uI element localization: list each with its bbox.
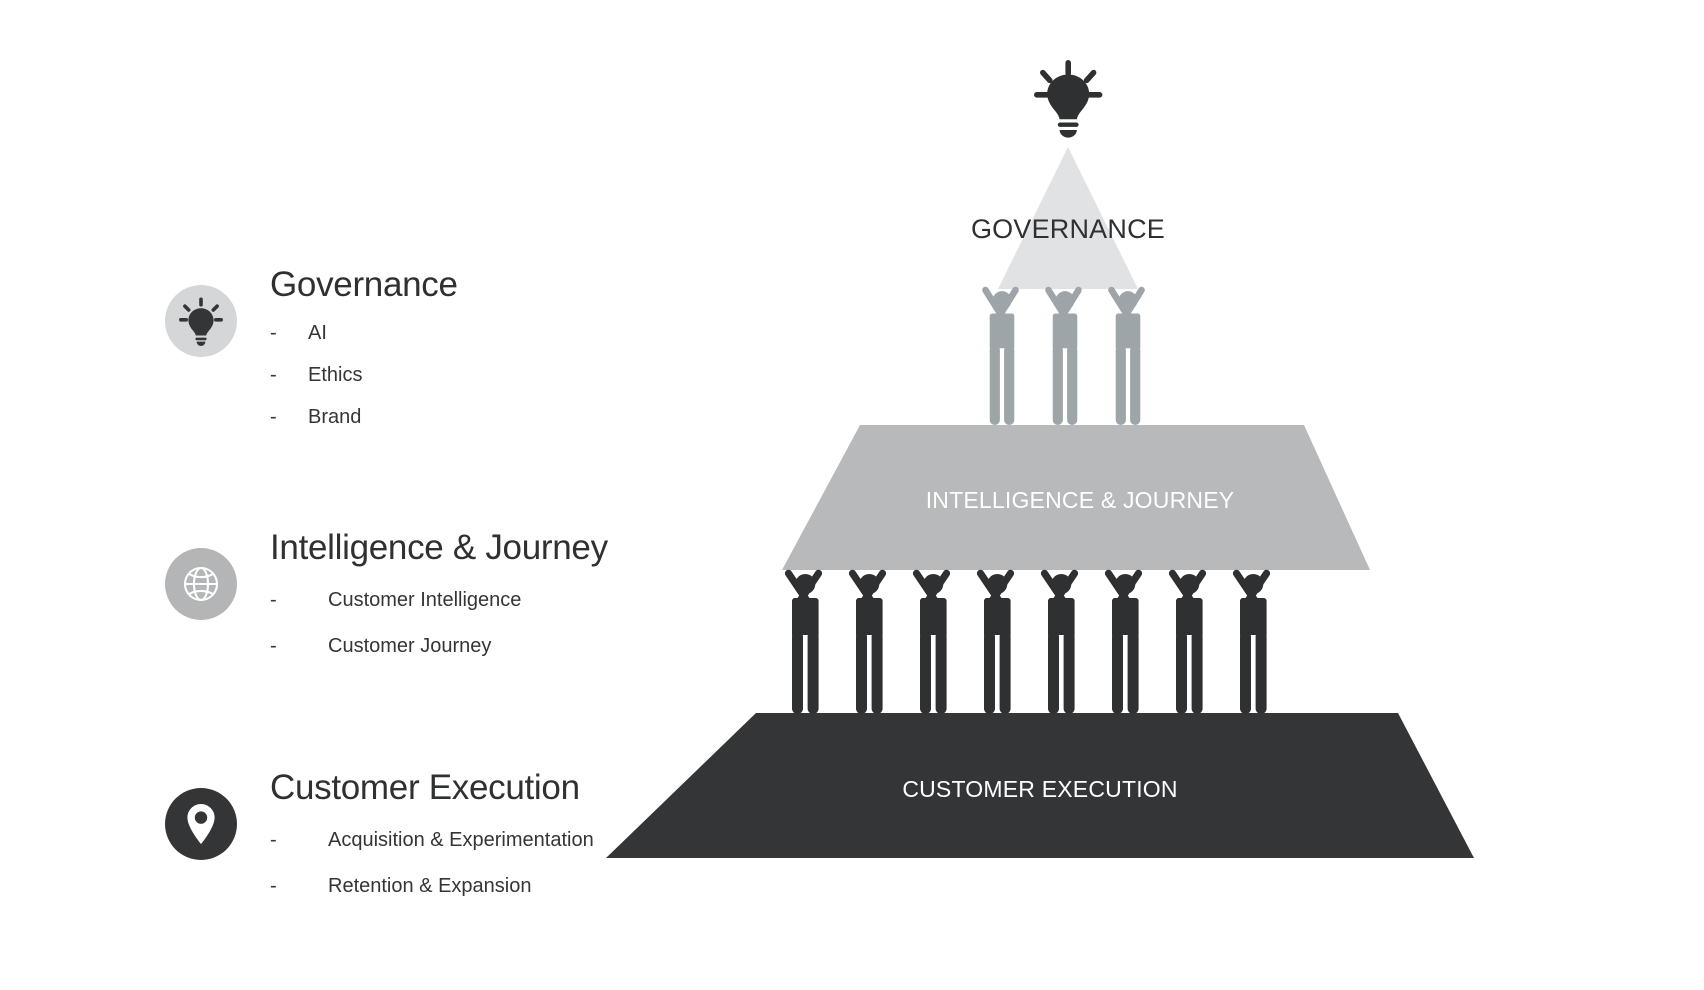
legend-item-label: Customer Journey (328, 623, 491, 669)
person-figure (981, 286, 1020, 425)
bullet-dash: - (270, 354, 280, 396)
person-figure (1044, 286, 1083, 425)
legend-item-label: Retention & Expansion (328, 863, 531, 909)
person-figure (847, 568, 887, 714)
person-figure (783, 568, 823, 714)
lightbulb-icon (165, 285, 237, 357)
bullet-dash: - (270, 396, 280, 438)
legend-item-label: Ethics (308, 354, 362, 396)
layer-label-governance: GOVERNANCE (971, 214, 1165, 244)
bullet-dash: - (270, 623, 280, 669)
legend-item-label: Acquisition & Experimentation (328, 817, 594, 863)
supporter-row-intelligence-journey (783, 568, 1271, 714)
pyramid-diagram: GOVERNANCE (560, 0, 1704, 990)
bullet-dash: - (270, 863, 280, 909)
layer-label-intelligence-journey: INTELLIGENCE & JOURNEY (926, 487, 1235, 513)
globe-icon (165, 548, 237, 620)
bullet-dash: - (270, 577, 280, 623)
person-figure (1039, 568, 1079, 714)
legend-item-label: Brand (308, 396, 361, 438)
person-figure (1167, 568, 1207, 714)
person-figure (1103, 568, 1143, 714)
person-figure (1231, 568, 1271, 714)
legend-item-label: AI (308, 312, 327, 354)
bullet-dash: - (270, 817, 280, 863)
lightbulb-icon (1034, 60, 1102, 138)
layer-label-customer-execution: CUSTOMER EXECUTION (902, 776, 1177, 802)
person-figure (911, 568, 951, 714)
person-figure (975, 568, 1015, 714)
person-figure (1107, 286, 1146, 425)
bullet-dash: - (270, 312, 280, 354)
slide-canvas: Governance - AI - Ethics - Brand (0, 0, 1704, 990)
legend-item-label: Customer Intelligence (328, 577, 521, 623)
location-pin-icon (165, 788, 237, 860)
pyramid-svg: GOVERNANCE (560, 0, 1704, 990)
supporter-row-governance (981, 286, 1146, 425)
